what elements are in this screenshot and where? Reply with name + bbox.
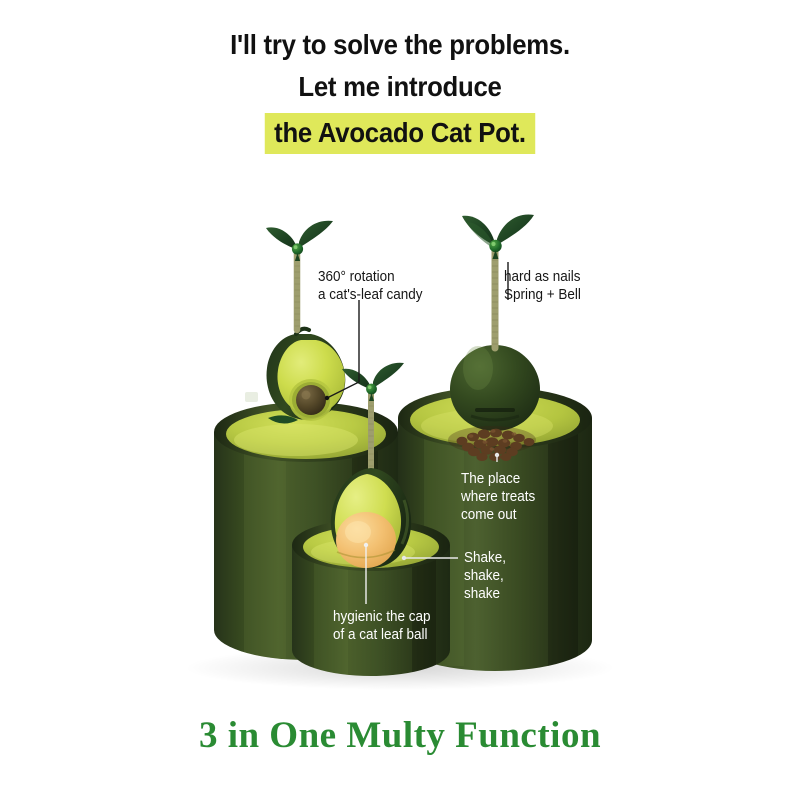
leader-dot-treats (495, 453, 499, 457)
footer-headline: 3 in One Multy Function (0, 714, 800, 757)
callout-hygienic: hygienic the cap of a cat leaf ball (333, 608, 430, 644)
product-illustration (0, 0, 800, 800)
leader-dot-shake (402, 556, 406, 560)
leader-dot-rotation (325, 396, 329, 400)
callout-rotation: 360° rotation a cat's-leaf candy (318, 268, 423, 304)
right-avocado-dispenser (450, 345, 540, 431)
callout-treats: The place where treats come out (461, 470, 535, 524)
callout-nails: hard as nails Spring + Bell (504, 268, 581, 304)
infographic-page: I'll try to solve the problems. Let me i… (0, 0, 800, 800)
callout-shake: Shake, shake, shake (464, 549, 506, 603)
leader-dot-hygienic (364, 543, 368, 547)
